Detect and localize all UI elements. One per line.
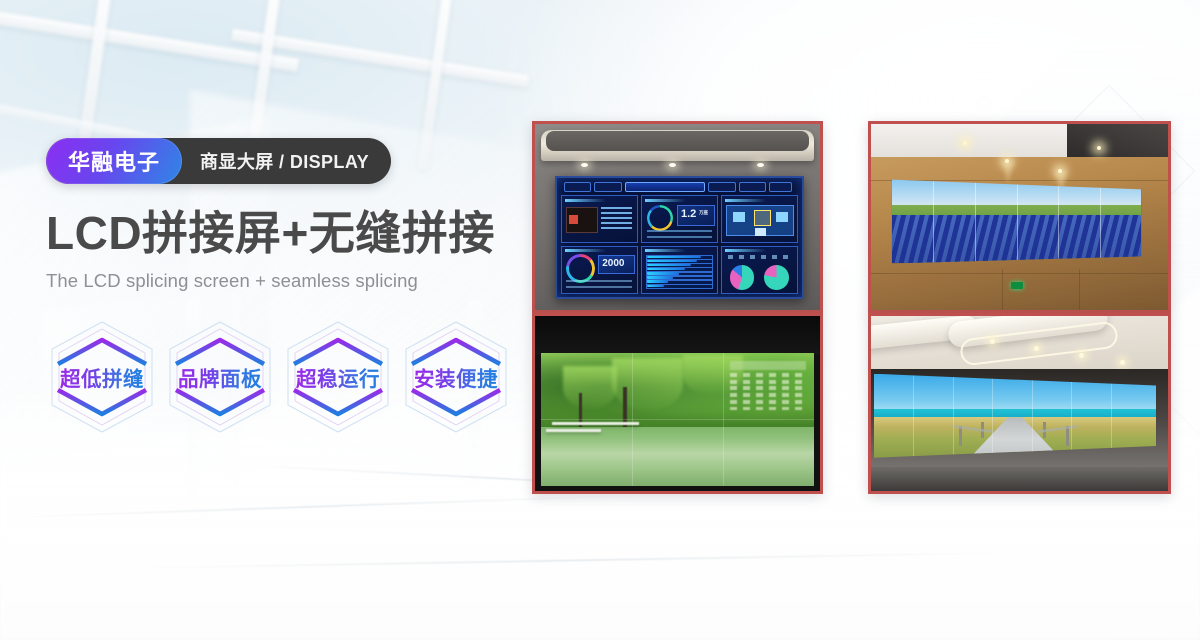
wood-seam — [1079, 269, 1080, 310]
panel-seam — [541, 419, 815, 420]
wall-top-bezel — [535, 316, 820, 355]
dashboard-kpi-value: 1.2 — [681, 208, 696, 220]
willow-branch — [563, 366, 618, 409]
ceiling-lamp — [1058, 169, 1062, 173]
photo-image — [535, 316, 820, 491]
dashboard-nav-item — [564, 182, 591, 192]
dashboard-panel-pie-charts — [721, 246, 798, 294]
feature-badge-label: 超低拼缝 — [60, 362, 144, 392]
wood-seam — [871, 273, 1168, 274]
headline-block: 华融电子 商显大屏 / DISPLAY LCD拼接屏+无缝拼接 The LCD … — [46, 138, 516, 436]
donut-chart — [647, 205, 673, 231]
exit-sign — [1011, 282, 1023, 289]
lakeside-railing — [546, 429, 601, 432]
lcd-video-wall: 1.2 万座 — [555, 176, 804, 299]
panel-seam — [1071, 374, 1072, 458]
dashboard-panel-donut-kpi: 1.2 万座 — [641, 195, 718, 243]
calendar-row — [730, 386, 807, 390]
pie-chart — [764, 265, 789, 290]
brand-pill: 华融电子 商显大屏 / DISPLAY — [46, 138, 391, 184]
ceiling-dark-panel — [1067, 124, 1168, 157]
photo-image — [871, 316, 1168, 491]
calendar-title — [730, 361, 807, 370]
page-subtitle: The LCD splicing screen + seamless splic… — [46, 270, 516, 292]
dashboard-nav-item — [594, 182, 621, 192]
dashboard-panel-donut-2000: 2000 — [561, 246, 638, 294]
dashboard-panel-bar-chart — [641, 246, 718, 294]
panel-seam — [992, 374, 993, 458]
dashboard-panel-flow-diagram — [721, 195, 798, 243]
product-banner: 华融电子 商显大屏 / DISPLAY LCD拼接屏+无缝拼接 The LCD … — [0, 0, 1200, 640]
category-label: 商显大屏 / DISPLAY — [182, 138, 391, 184]
panel-seam — [933, 174, 934, 263]
polished-floor — [871, 467, 1168, 492]
photo-image — [871, 124, 1168, 310]
dashboard-nav-item — [769, 182, 792, 192]
photo-beach-boardwalk-wall — [868, 313, 1171, 494]
calendar-row — [730, 407, 807, 411]
calendar-row — [730, 400, 807, 404]
dashboard-kpi-unit: 万座 — [699, 210, 708, 216]
page-title: LCD拼接屏+无缝拼接 — [46, 210, 516, 258]
calendar-row — [730, 380, 807, 384]
feature-badge-label: 超稳运行 — [296, 362, 380, 392]
lcd-video-wall — [874, 374, 1156, 458]
calendar-overlay — [730, 361, 807, 417]
rope-post — [959, 426, 962, 446]
rope-post — [1066, 426, 1069, 446]
downlight — [990, 339, 995, 344]
ceiling-spotlight — [581, 163, 588, 167]
ceiling-spotlight — [669, 163, 676, 167]
feature-badge-label: 安装便捷 — [414, 362, 498, 392]
feature-badge: 品牌面板 — [164, 318, 276, 436]
pie-chart — [730, 265, 755, 290]
ceiling-soffit-inner — [546, 131, 808, 151]
feature-badge-list: 超低拼缝 品牌面板 超稳运行 — [46, 318, 516, 436]
feature-badge: 超稳运行 — [282, 318, 394, 436]
tree-trunk — [623, 387, 627, 432]
panel-seam — [913, 374, 914, 458]
feature-badge: 超低拼缝 — [46, 318, 158, 436]
panel-seam — [975, 174, 976, 263]
panel-seam — [1032, 374, 1033, 458]
calendar-row — [730, 373, 807, 377]
dashboard-title-plate — [625, 182, 706, 192]
photo-control-room-dashboard: 1.2 万座 — [532, 121, 823, 313]
photo-image: 1.2 万座 — [535, 124, 820, 310]
dashboard-nav-item — [708, 182, 735, 192]
lake-water — [541, 427, 815, 486]
lcd-video-wall — [541, 353, 815, 486]
dashboard-top-bar — [561, 180, 799, 193]
downlight — [1079, 353, 1084, 358]
feature-badge-label: 品牌面板 — [178, 362, 262, 392]
dashboard-panel-media — [561, 195, 638, 243]
panel-seam — [953, 374, 954, 458]
panel-seam — [1111, 374, 1112, 458]
donut-chart — [566, 254, 595, 283]
photo-solar-farm-wall — [868, 121, 1171, 313]
dashboard-panels: 1.2 万座 — [561, 195, 799, 293]
lakeside-railing — [552, 422, 640, 425]
dashboard-secondary-value: 2000 — [602, 258, 624, 269]
calendar-row — [730, 393, 807, 397]
wood-seam — [1002, 269, 1003, 310]
ceiling-lamp — [963, 141, 967, 145]
feature-badge: 安装便捷 — [400, 318, 512, 436]
brand-name: 华融电子 — [46, 138, 182, 184]
dashboard-nav-item — [739, 182, 766, 192]
wall-light-cone — [1002, 161, 1014, 183]
panel-seam — [1058, 174, 1059, 263]
photo-willow-lake-wall — [532, 313, 823, 494]
panel-seam — [1017, 174, 1018, 263]
